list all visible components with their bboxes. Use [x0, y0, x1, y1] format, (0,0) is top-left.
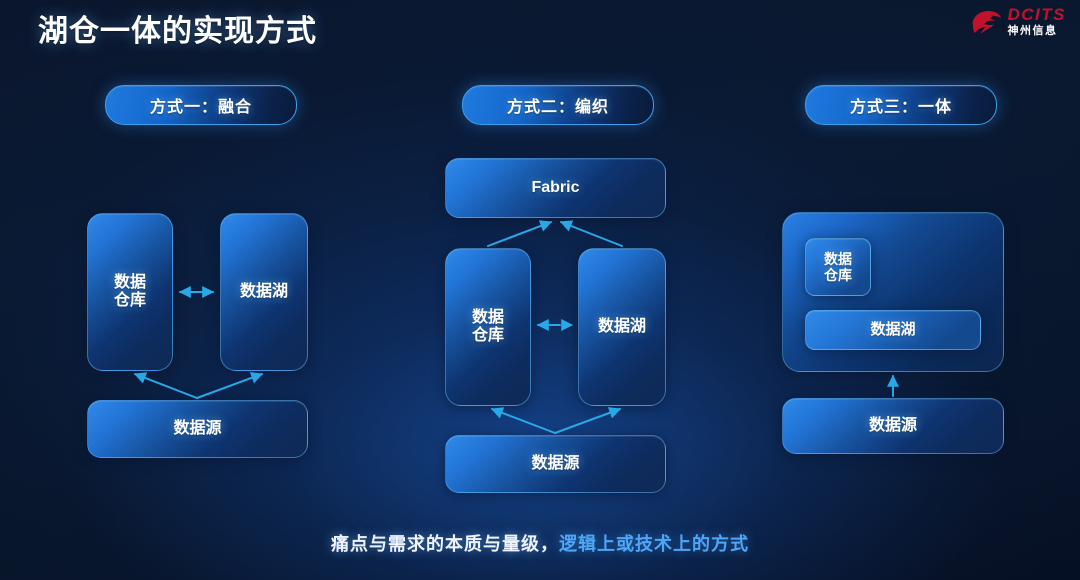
column-3-header-pill[interactable]: 方式三：一体 [805, 85, 997, 125]
logo-english-name: DCITS [1008, 6, 1067, 23]
column-2-data-warehouse-node[interactable]: 数据 仓库 [445, 248, 531, 406]
column-1-data-source-node[interactable]: 数据源 [87, 400, 308, 458]
column-1-data-warehouse-node[interactable]: 数据 仓库 [87, 213, 173, 371]
dcits-swoosh-icon [969, 7, 1003, 37]
column-3-data-lake-node[interactable]: 数据湖 [805, 310, 981, 350]
slide-canvas: 湖仓一体的实现方式 DCITS 神州信息 方式一：融合 方式二：编织 方式三：一… [0, 0, 1080, 580]
column-2-fabric-node[interactable]: Fabric [445, 158, 666, 218]
c1-source-to-lake-arrow [197, 374, 262, 398]
column-2-data-lake-node[interactable]: 数据湖 [578, 248, 666, 406]
logo-text: DCITS 神州信息 [1008, 6, 1067, 37]
page-title: 湖仓一体的实现方式 [38, 6, 317, 50]
column-3-data-source-node[interactable]: 数据源 [782, 398, 1004, 454]
caption-part-a: 痛点与需求的本质与量级， [331, 534, 559, 554]
logo-chinese-name: 神州信息 [1008, 26, 1067, 37]
column-3-data-warehouse-node[interactable]: 数据 仓库 [805, 238, 871, 296]
column-2-header-pill[interactable]: 方式二：编织 [462, 85, 654, 125]
c1-source-to-warehouse-arrow [135, 374, 197, 398]
caption-part-b: 逻辑上或技术上的方式 [559, 534, 749, 554]
column-1-header-pill[interactable]: 方式一：融合 [105, 85, 297, 125]
column-2-data-source-node[interactable]: 数据源 [445, 435, 666, 493]
company-logo: DCITS 神州信息 [969, 6, 1067, 37]
footer-caption: 痛点与需求的本质与量级，逻辑上或技术上的方式 [0, 530, 1080, 556]
c2-warehouse-to-fabric-arrow [488, 222, 551, 246]
column-1-data-lake-node[interactable]: 数据湖 [220, 213, 308, 371]
c2-source-to-warehouse-arrow [492, 409, 555, 433]
c2-source-to-lake-arrow [555, 409, 620, 433]
c2-lake-to-fabric-arrow [561, 222, 622, 246]
